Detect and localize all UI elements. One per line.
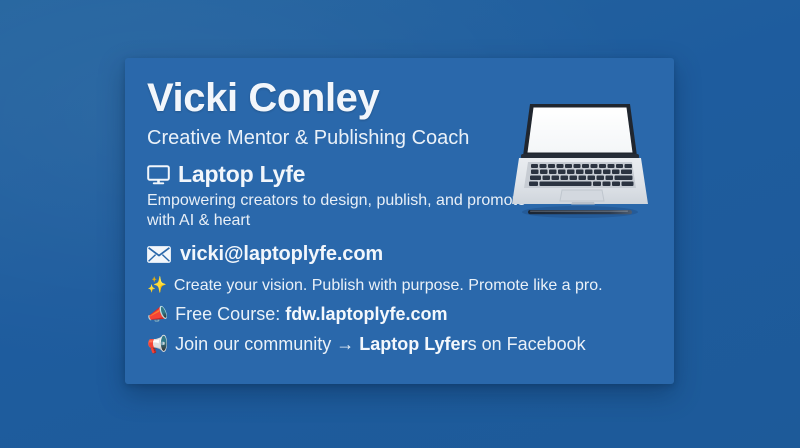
megaphone-icon: 📢 [147,336,168,353]
bullet-row-community[interactable]: 📢 Join our community → Laptop Lyfers on … [147,334,647,355]
bullet-text-community: Join our community → Laptop Lyfers on Fa… [175,334,585,355]
open-laptop-illustration [506,100,654,236]
community-group-name[interactable]: Laptop Lyfer [359,334,467,354]
bullet-text-free-course: Free Course: fdw.laptoplyfe.com [175,304,447,325]
bullet-row-vision: ✨ Create your vision. Publish with purpo… [147,277,647,295]
image-canvas: Vicki Conley Creative Mentor & Publishin… [0,0,800,448]
bullet-text-vision: Create your vision. Publish with purpose… [174,277,603,295]
card-content: Vicki Conley Creative Mentor & Publishin… [147,78,658,370]
brand-blurb: Empowering creators to design, publish, … [147,191,527,231]
brand-name: Laptop Lyfe [178,161,305,188]
free-course-url[interactable]: fdw.laptoplyfe.com [285,304,447,324]
megaphone-icon: 📣 [147,306,168,323]
sparkles-icon: ✨ [147,278,167,294]
monitor-icon [147,165,170,185]
email-address[interactable]: vicki@laptoplyfe.com [180,243,383,266]
bullet-row-free-course[interactable]: 📣 Free Course: fdw.laptoplyfe.com [147,304,647,325]
envelope-icon [147,246,171,263]
email-row[interactable]: vicki@laptoplyfe.com [147,243,647,266]
business-card: Vicki Conley Creative Mentor & Publishin… [125,58,674,384]
